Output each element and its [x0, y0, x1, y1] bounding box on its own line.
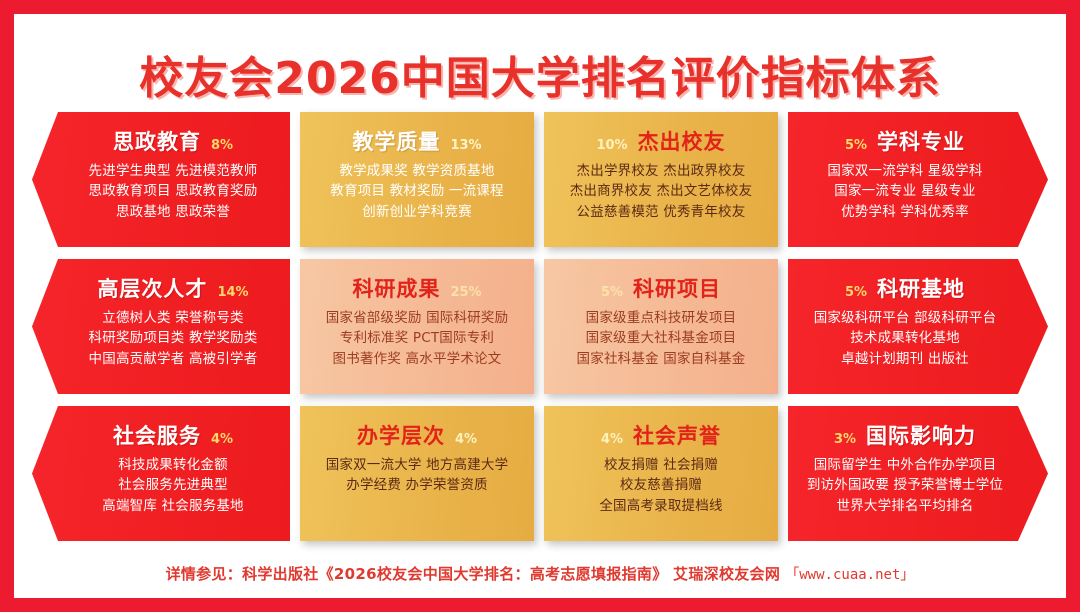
card-indicator-line: 公益慈善模范 优秀青年校友 — [577, 204, 746, 221]
card-indicator-line: 全国高考录取提档线 — [599, 498, 722, 515]
indicator-card-科研成果[interactable]: 科研成果25%国家省部级奖励 国际科研奖励专利标准奖 PCT国际专利图书著作奖 … — [300, 259, 534, 394]
indicator-card-科研基地[interactable]: 5%科研基地国家级科研平台 部级科研平台技术成果转化基地卓越计划期刊 出版社 — [788, 259, 1048, 394]
card-title: 杰出校友 — [638, 126, 726, 156]
card-indicator-list: 国家级重点科技研发项目国家级重大社科基金项目国家社科基金 国家自科基金 — [550, 310, 772, 368]
card-header: 科研成果25% — [352, 273, 481, 303]
card-title: 社会声誉 — [633, 420, 721, 450]
card-indicator-line: 办学经费 办学荣誉资质 — [346, 477, 488, 494]
title-container: 校友会2026中国大学排名评价指标体系 — [14, 42, 1066, 106]
card-title: 科研基地 — [877, 273, 965, 303]
card-indicator-line: 社会服务先进典型 — [118, 477, 228, 494]
card-title: 教学质量 — [352, 126, 440, 156]
card-indicator-list: 杰出学界校友 杰出政界校友杰出商界校友 杰出文艺体校友公益慈善模范 优秀青年校友 — [550, 163, 772, 221]
card-indicator-line: 校友捐赠 社会捐赠 — [604, 457, 718, 474]
card-indicator-line: 思政教育项目 思政教育奖励 — [89, 183, 258, 200]
card-header: 10%杰出校友 — [596, 126, 725, 156]
footer-text: 详情参见：科学出版社《2026校友会中国大学排名：高考志愿填报指南》 艾瑞深校友… — [166, 563, 781, 584]
card-indicator-line: 中国高贡献学者 高被引学者 — [89, 351, 258, 368]
indicator-card-科研项目[interactable]: 5%科研项目国家级重点科技研发项目国家级重大社科基金项目国家社科基金 国家自科基… — [544, 259, 778, 394]
indicator-card-思政教育[interactable]: 思政教育8%先进学生典型 先进模范教师思政教育项目 思政教育奖励思政基地 思政荣… — [32, 112, 290, 247]
indicator-card-办学层次[interactable]: 办学层次4%国家双一流大学 地方高建大学办学经费 办学荣誉资质 — [300, 406, 534, 541]
card-indicator-list: 科技成果转化金额社会服务先进典型高端智库 社会服务基地 — [62, 457, 284, 515]
indicator-row: 思政教育8%先进学生典型 先进模范教师思政教育项目 思政教育奖励思政基地 思政荣… — [32, 112, 1048, 247]
card-header: 思政教育8% — [113, 126, 233, 156]
card-header: 4%社会声誉 — [601, 420, 721, 450]
footer: 详情参见：科学出版社《2026校友会中国大学排名：高考志愿填报指南》 艾瑞深校友… — [14, 563, 1066, 584]
card-indicator-line: 到访外国政要 授予荣誉博士学位 — [807, 477, 1003, 494]
card-indicator-list: 国家省部级奖励 国际科研奖励专利标准奖 PCT国际专利图书著作奖 高水平学术论文 — [306, 310, 528, 368]
card-indicator-line: 教育项目 教材奖励 一流课程 — [330, 183, 503, 200]
card-indicator-line: 国家级重点科技研发项目 — [586, 310, 737, 327]
card-percent: 25% — [450, 285, 481, 300]
indicator-card-教学质量[interactable]: 教学质量13%教学成果奖 教学资质基地教育项目 教材奖励 一流课程创新创业学科竞… — [300, 112, 534, 247]
card-indicator-list: 国家级科研平台 部级科研平台技术成果转化基地卓越计划期刊 出版社 — [794, 310, 1016, 368]
card-indicator-line: 先进学生典型 先进模范教师 — [89, 163, 258, 180]
card-percent: 14% — [217, 285, 248, 300]
card-indicator-line: 国家双一流大学 地方高建大学 — [326, 457, 509, 474]
card-percent: 5% — [845, 138, 867, 153]
card-indicator-list: 国际留学生 中外合作办学项目到访外国政要 授予荣誉博士学位世界大学排名平均排名 — [794, 457, 1016, 515]
card-indicator-line: 杰出学界校友 杰出政界校友 — [577, 163, 746, 180]
card-indicator-line: 立德树人类 荣誉称号类 — [102, 310, 244, 327]
indicator-card-高层次人才[interactable]: 高层次人才14%立德树人类 荣誉称号类科研奖励项目类 教学奖励类中国高贡献学者 … — [32, 259, 290, 394]
card-percent: 4% — [211, 432, 233, 447]
card-indicator-line: 思政基地 思政荣誉 — [116, 204, 230, 221]
card-indicator-list: 国家双一流学科 星级学科国家一流专业 星级专业优势学科 学科优秀率 — [794, 163, 1016, 221]
card-indicator-list: 先进学生典型 先进模范教师思政教育项目 思政教育奖励思政基地 思政荣誉 — [62, 163, 284, 221]
card-percent: 5% — [845, 285, 867, 300]
card-indicator-line: 国家省部级奖励 国际科研奖励 — [326, 310, 509, 327]
card-percent: 3% — [834, 432, 856, 447]
card-indicator-line: 国家社科基金 国家自科基金 — [577, 351, 746, 368]
card-indicator-line: 专利标准奖 PCT国际专利 — [340, 330, 494, 347]
card-indicator-line: 技术成果转化基地 — [850, 330, 960, 347]
card-title: 办学层次 — [357, 420, 445, 450]
card-indicator-line: 高端智库 社会服务基地 — [102, 498, 244, 515]
card-indicator-line: 优势学科 学科优秀率 — [841, 204, 969, 221]
card-header: 5%科研项目 — [601, 273, 721, 303]
card-percent: 4% — [601, 432, 623, 447]
card-indicator-line: 国家双一流学科 星级学科 — [827, 163, 982, 180]
indicator-grid: 思政教育8%先进学生典型 先进模范教师思政教育项目 思政教育奖励思政基地 思政荣… — [32, 112, 1048, 541]
indicator-card-社会服务[interactable]: 社会服务4%科技成果转化金额社会服务先进典型高端智库 社会服务基地 — [32, 406, 290, 541]
card-percent: 5% — [601, 285, 623, 300]
card-indicator-line: 国家级科研平台 部级科研平台 — [814, 310, 997, 327]
card-title: 科研项目 — [633, 273, 721, 303]
card-title: 思政教育 — [113, 126, 201, 156]
card-percent: 10% — [596, 138, 627, 153]
infographic-page: 校友会2026中国大学排名评价指标体系 思政教育8%先进学生典型 先进模范教师思… — [14, 14, 1066, 598]
indicator-card-杰出校友[interactable]: 10%杰出校友杰出学界校友 杰出政界校友杰出商界校友 杰出文艺体校友公益慈善模范… — [544, 112, 778, 247]
card-indicator-line: 杰出商界校友 杰出文艺体校友 — [570, 183, 753, 200]
indicator-row: 社会服务4%科技成果转化金额社会服务先进典型高端智库 社会服务基地办学层次4%国… — [32, 406, 1048, 541]
card-indicator-list: 教学成果奖 教学资质基地教育项目 教材奖励 一流课程创新创业学科竞赛 — [306, 163, 528, 221]
card-title: 高层次人才 — [97, 273, 207, 303]
card-percent: 13% — [450, 138, 481, 153]
card-indicator-line: 校友慈善捐赠 — [620, 477, 702, 494]
page-title: 校友会2026中国大学排名评价指标体系 — [139, 42, 940, 106]
card-header: 3%国际影响力 — [834, 420, 976, 450]
card-indicator-line: 卓越计划期刊 出版社 — [841, 351, 969, 368]
indicator-row: 高层次人才14%立德树人类 荣誉称号类科研奖励项目类 教学奖励类中国高贡献学者 … — [32, 259, 1048, 394]
card-indicator-line: 科技成果转化金额 — [118, 457, 228, 474]
card-indicator-line: 国际留学生 中外合作办学项目 — [814, 457, 997, 474]
card-header: 高层次人才14% — [97, 273, 248, 303]
card-indicator-line: 教学成果奖 教学资质基地 — [339, 163, 494, 180]
indicator-card-社会声誉[interactable]: 4%社会声誉校友捐赠 社会捐赠校友慈善捐赠全国高考录取提档线 — [544, 406, 778, 541]
card-indicator-list: 国家双一流大学 地方高建大学办学经费 办学荣誉资质 — [306, 457, 528, 495]
card-header: 社会服务4% — [113, 420, 233, 450]
footer-url: 「www.cuaa.net」 — [785, 567, 914, 583]
card-indicator-line: 图书著作奖 高水平学术论文 — [333, 351, 502, 368]
card-indicator-line: 国家级重大社科基金项目 — [586, 330, 737, 347]
card-header: 办学层次4% — [357, 420, 477, 450]
card-title: 社会服务 — [113, 420, 201, 450]
card-indicator-line: 科研奖励项目类 教学奖励类 — [89, 330, 258, 347]
card-header: 5%科研基地 — [845, 273, 965, 303]
card-indicator-list: 立德树人类 荣誉称号类科研奖励项目类 教学奖励类中国高贡献学者 高被引学者 — [62, 310, 284, 368]
card-header: 5%学科专业 — [845, 126, 965, 156]
card-percent: 8% — [211, 138, 233, 153]
card-indicator-line: 创新创业学科竞赛 — [362, 204, 472, 221]
card-header: 教学质量13% — [352, 126, 481, 156]
indicator-card-学科专业[interactable]: 5%学科专业国家双一流学科 星级学科国家一流专业 星级专业优势学科 学科优秀率 — [788, 112, 1048, 247]
card-title: 国际影响力 — [866, 420, 976, 450]
card-title: 科研成果 — [352, 273, 440, 303]
card-indicator-line: 国家一流专业 星级专业 — [834, 183, 976, 200]
indicator-card-国际影响力[interactable]: 3%国际影响力国际留学生 中外合作办学项目到访外国政要 授予荣誉博士学位世界大学… — [788, 406, 1048, 541]
card-percent: 4% — [455, 432, 477, 447]
card-indicator-line: 世界大学排名平均排名 — [837, 498, 974, 515]
card-title: 学科专业 — [877, 126, 965, 156]
card-indicator-list: 校友捐赠 社会捐赠校友慈善捐赠全国高考录取提档线 — [550, 457, 772, 515]
